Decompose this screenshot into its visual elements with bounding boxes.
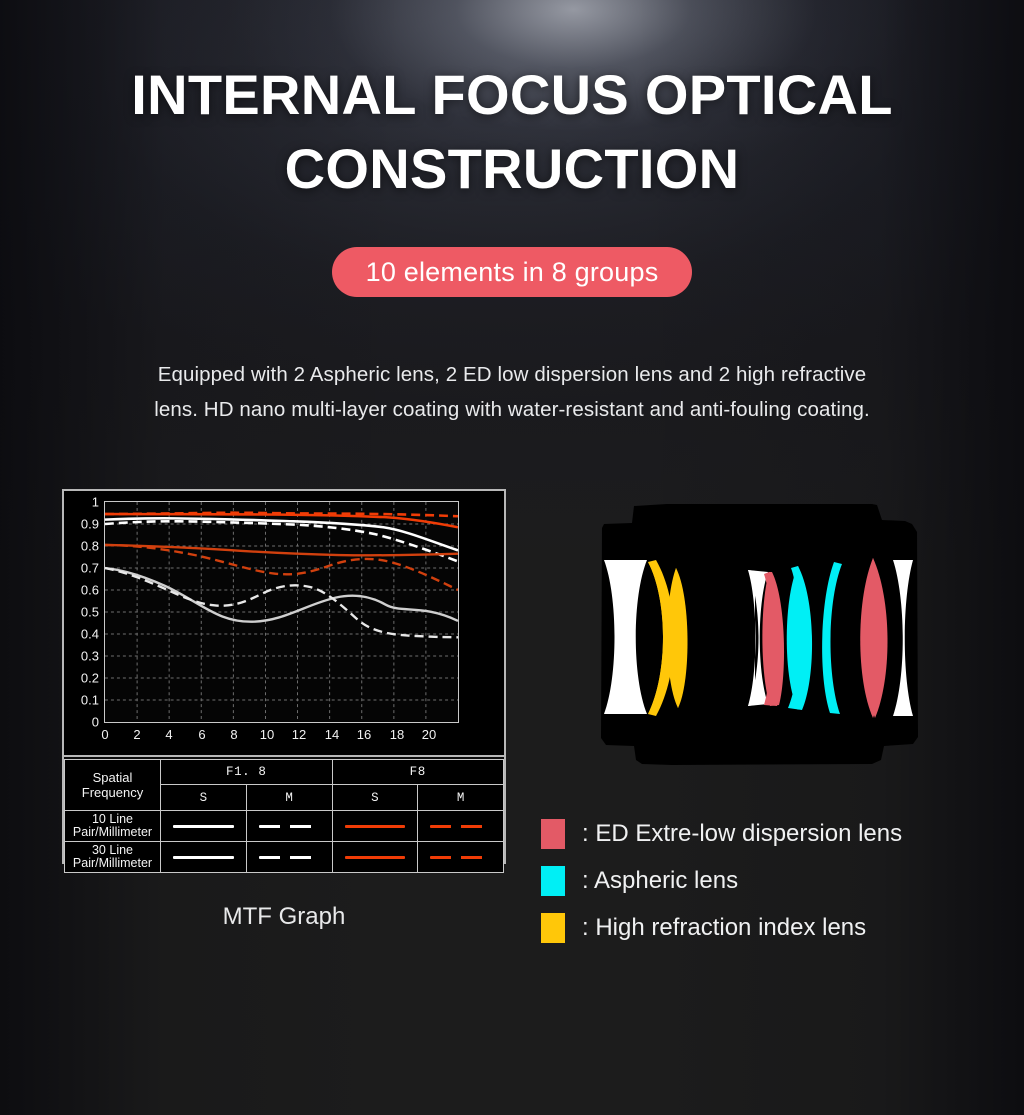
y-tick-0: 0 (65, 716, 99, 729)
y-tick-07: 0.7 (65, 562, 99, 575)
legend-swatch-aspheric-icon (541, 866, 565, 896)
legend-label-aspheric: : Aspheric lens (582, 866, 738, 896)
y-tick-03: 0.3 (65, 650, 99, 663)
x-tick-10: 10 (260, 727, 274, 742)
line-solid-white-icon (173, 856, 234, 859)
corner-header-line-1: Spatial (93, 770, 133, 785)
mtf-x-axis: 0 2 4 6 8 10 12 14 16 18 20 (104, 727, 460, 749)
row-label-10-line-2: Pair/Millimeter (73, 825, 152, 839)
x-tick-2: 2 (133, 727, 140, 742)
legend-item-ed: : ED Extre-low dispersion lens (541, 810, 1001, 857)
x-tick-8: 8 (230, 727, 237, 742)
y-tick-06: 0.6 (65, 584, 99, 597)
row-label-30-line: 30 Line Pair/Millimeter (65, 842, 161, 873)
line-dashed-orange-icon (430, 825, 491, 828)
table-row: 10 Line Pair/Millimeter (65, 811, 504, 842)
curve-f18-30-m (105, 568, 458, 637)
mtf-chart: 1 0.9 0.8 0.7 0.6 0.5 0.4 0.3 0.2 0.1 0 (64, 491, 504, 757)
header-f8-s: S (332, 785, 418, 811)
y-tick-1: 1 (65, 496, 99, 509)
header-aperture-f8: F8 (332, 760, 504, 785)
row-label-30-line-2: Pair/Millimeter (73, 856, 152, 870)
swatch-30-f8-m (418, 842, 504, 873)
legend-swatch-high-refraction-icon (541, 913, 565, 943)
swatch-10-f8-m (418, 811, 504, 842)
description-line-2: lens. HD nano multi-layer coating with w… (0, 392, 1024, 427)
badge-container: 10 elements in 8 groups (0, 247, 1024, 297)
y-tick-08: 0.8 (65, 540, 99, 553)
mtf-y-axis: 1 0.9 0.8 0.7 0.6 0.5 0.4 0.3 0.2 0.1 0 (64, 491, 102, 735)
mtf-plot-area (104, 501, 459, 723)
lens-construction-diagram (572, 492, 948, 780)
header-f18-s: S (161, 785, 247, 811)
row-label-10-line: 10 Line Pair/Millimeter (65, 811, 161, 842)
x-tick-0: 0 (101, 727, 108, 742)
line-solid-white-icon (173, 825, 234, 828)
table-header-row-aperture: Spatial Frequency F1. 8 F8 (65, 760, 504, 785)
line-dashed-white-icon (259, 856, 320, 859)
x-tick-20: 20 (422, 727, 436, 742)
mtf-graph-caption: MTF Graph (62, 902, 506, 932)
header-f18-m: M (246, 785, 332, 811)
legend-item-high-refraction: : High refraction index lens (541, 904, 1001, 951)
swatch-10-f18-m (246, 811, 332, 842)
y-tick-09: 0.9 (65, 518, 99, 531)
lens-diagram-svg (572, 492, 948, 780)
line-dashed-white-icon (259, 825, 320, 828)
swatch-10-f18-s (161, 811, 247, 842)
page-content: INTERNAL FOCUS OPTICAL CONSTRUCTION 10 e… (0, 0, 1024, 1115)
lens-legend: : ED Extre-low dispersion lens : Aspheri… (541, 810, 1001, 951)
mtf-curves-svg (105, 502, 458, 722)
row-label-10-line-1: 10 Line (92, 812, 133, 826)
legend-label-high-refraction: : High refraction index lens (582, 913, 866, 943)
header-f8-m: M (418, 785, 504, 811)
x-tick-4: 4 (165, 727, 172, 742)
curve-f18-30-s (105, 568, 458, 622)
page-title-line-2: CONSTRUCTION (0, 132, 1024, 206)
mtf-legend-table: Spatial Frequency F1. 8 F8 S M S M 10 Li… (64, 759, 504, 873)
legend-swatch-ed-icon (541, 819, 565, 849)
swatch-10-f8-s (332, 811, 418, 842)
swatch-30-f18-s (161, 842, 247, 873)
y-tick-04: 0.4 (65, 628, 99, 641)
y-tick-02: 0.2 (65, 672, 99, 685)
x-tick-12: 12 (292, 727, 306, 742)
description-line-1: Equipped with 2 Aspheric lens, 2 ED low … (0, 357, 1024, 392)
header-aperture-f18: F1. 8 (161, 760, 333, 785)
x-tick-14: 14 (325, 727, 339, 742)
table-corner-header: Spatial Frequency (65, 760, 161, 811)
line-solid-orange-icon (345, 825, 406, 828)
line-dashed-orange-icon (430, 856, 491, 859)
corner-header-line-2: Frequency (82, 785, 143, 800)
legend-label-ed: : ED Extre-low dispersion lens (582, 819, 902, 849)
elements-groups-badge: 10 elements in 8 groups (332, 247, 693, 297)
row-label-30-line-1: 30 Line (92, 843, 133, 857)
mtf-panel: 1 0.9 0.8 0.7 0.6 0.5 0.4 0.3 0.2 0.1 0 (62, 489, 506, 864)
table-row: 30 Line Pair/Millimeter (65, 842, 504, 873)
x-tick-18: 18 (390, 727, 404, 742)
page-title: INTERNAL FOCUS OPTICAL CONSTRUCTION (0, 58, 1024, 206)
y-tick-01: 0.1 (65, 694, 99, 707)
swatch-30-f18-m (246, 842, 332, 873)
page-title-line-1: INTERNAL FOCUS OPTICAL (0, 58, 1024, 132)
x-tick-16: 16 (357, 727, 371, 742)
legend-item-aspheric: : Aspheric lens (541, 857, 1001, 904)
x-tick-6: 6 (198, 727, 205, 742)
line-solid-orange-icon (345, 856, 406, 859)
swatch-30-f8-s (332, 842, 418, 873)
description-text: Equipped with 2 Aspheric lens, 2 ED low … (0, 357, 1024, 427)
y-tick-05: 0.5 (65, 606, 99, 619)
grid-lines (105, 502, 458, 722)
